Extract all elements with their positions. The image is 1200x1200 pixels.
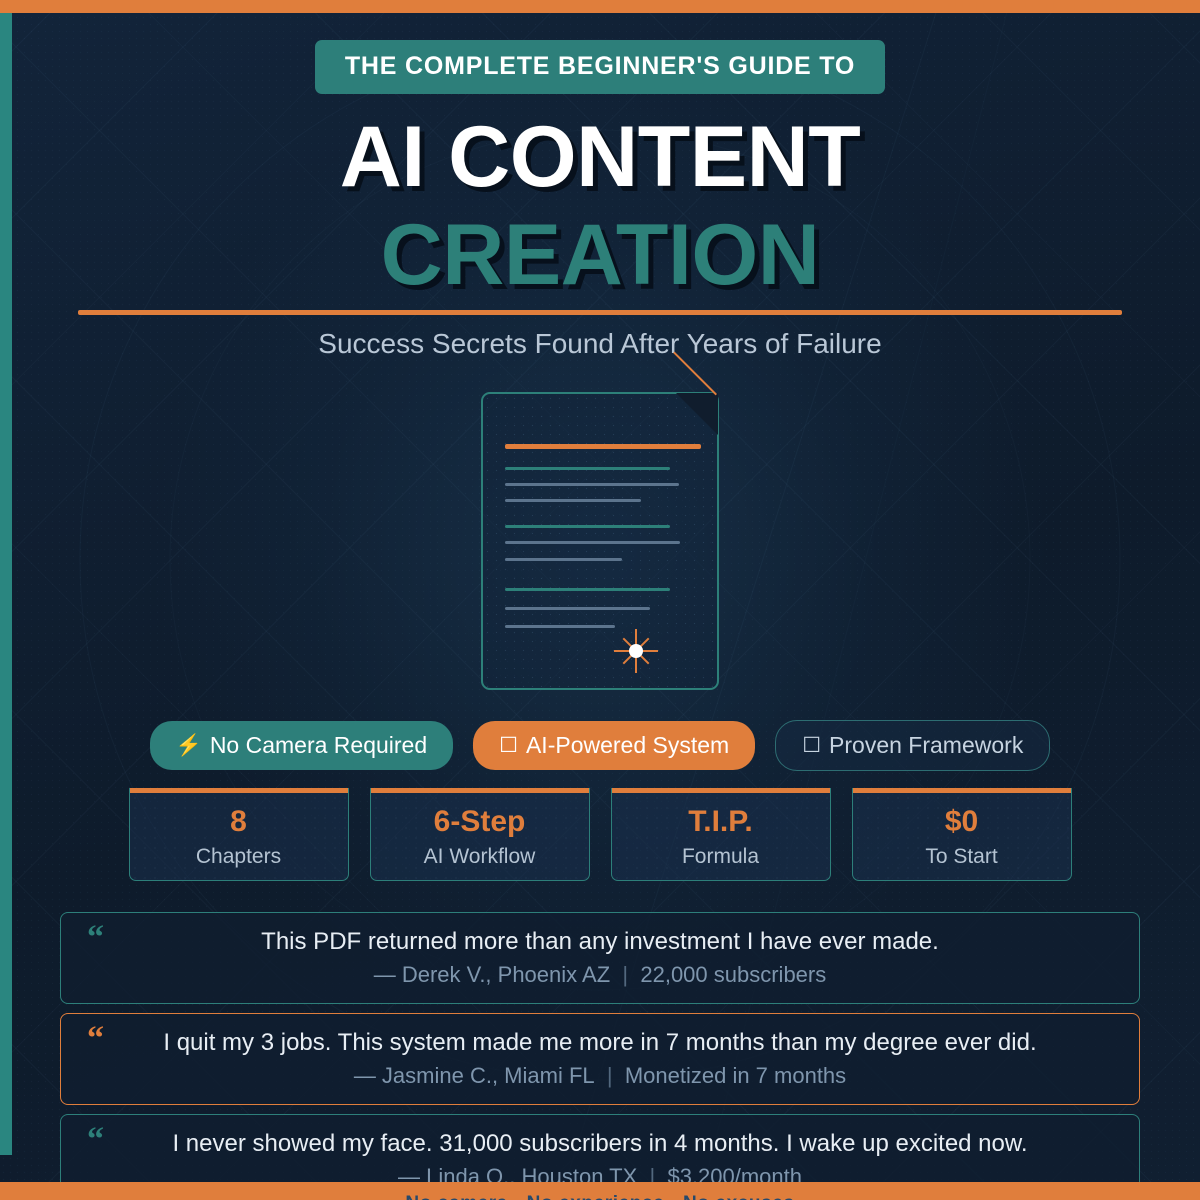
top-accent-bar xyxy=(0,0,1200,13)
testimonial-separator: | xyxy=(622,962,628,987)
title-divider xyxy=(78,310,1122,315)
badge-label: AI-Powered System xyxy=(526,732,729,759)
stat-card-chapters: 8Chapters xyxy=(129,788,349,881)
document-fold-corner-icon xyxy=(676,393,718,435)
testimonial-metric: 22,000 subscribers xyxy=(640,962,826,987)
testimonial-quote: This PDF returned more than any investme… xyxy=(117,927,1083,957)
poster-canvas: THE COMPLETE BEGINNER'S GUIDE TO AI CONT… xyxy=(0,0,1200,1200)
document-line xyxy=(505,444,701,449)
footer-text: No camera · No experience · No excuses xyxy=(405,1194,794,1200)
robot-icon: ☐ xyxy=(499,735,518,756)
testimonial-card: “I quit my 3 jobs. This system made me m… xyxy=(60,1013,1140,1105)
quote-mark-icon: “ xyxy=(87,1022,104,1056)
page-title-line1: AI CONTENT xyxy=(0,108,1200,207)
eyebrow-container: THE COMPLETE BEGINNER'S GUIDE TO xyxy=(0,40,1200,94)
footer-strip: No camera · No experience · No excuses xyxy=(0,1182,1200,1200)
stat-value: 8 xyxy=(230,805,247,839)
badge-row: ⚡No Camera Required☐AI-Powered System☐Pr… xyxy=(0,720,1200,771)
lightning-bolt-icon: ⚡ xyxy=(176,735,202,756)
document-line xyxy=(505,525,670,528)
quote-mark-icon: “ xyxy=(87,921,104,955)
document-line xyxy=(505,467,670,470)
testimonial-separator: | xyxy=(607,1063,613,1088)
document-line xyxy=(505,558,622,561)
stat-label: AI Workflow xyxy=(424,845,536,869)
document-line xyxy=(505,607,650,610)
stat-value: 6-Step xyxy=(434,805,526,839)
testimonial-attribution: — Jasmine C., Miami FL | Monetized in 7 … xyxy=(117,1063,1083,1089)
page-title-line2: CREATION xyxy=(0,206,1200,305)
stat-label: Chapters xyxy=(196,845,281,869)
document-line xyxy=(505,541,680,544)
eyebrow-badge: THE COMPLETE BEGINNER'S GUIDE TO xyxy=(315,40,885,94)
testimonial-author: — Derek V., Phoenix AZ xyxy=(374,962,610,987)
badge-label: No Camera Required xyxy=(210,732,427,759)
document-line xyxy=(505,588,670,591)
stat-card-to-start: $0To Start xyxy=(852,788,1072,881)
stat-value: T.I.P. xyxy=(688,805,752,839)
left-accent-bar xyxy=(0,13,12,1155)
stat-card-formula: T.I.P.Formula xyxy=(611,788,831,881)
stat-value: $0 xyxy=(945,805,978,839)
testimonial-quote: I quit my 3 jobs. This system made me mo… xyxy=(117,1028,1083,1058)
quote-mark-icon: “ xyxy=(87,1123,104,1157)
stats-row: 8Chapters6-StepAI WorkflowT.I.P.Formula$… xyxy=(0,788,1200,881)
testimonial-quote: I never showed my face. 31,000 subscribe… xyxy=(117,1129,1083,1159)
stat-label: Formula xyxy=(682,845,759,869)
testimonial-author: — Jasmine C., Miami FL xyxy=(354,1063,595,1088)
document-line xyxy=(505,483,679,486)
badge-label: Proven Framework xyxy=(829,732,1023,759)
sparkle-icon xyxy=(614,629,658,673)
testimonial-card: “This PDF returned more than any investm… xyxy=(60,912,1140,1004)
testimonial-metric: Monetized in 7 months xyxy=(625,1063,846,1088)
document-line xyxy=(505,499,641,502)
document-icon xyxy=(481,392,719,690)
stat-label: To Start xyxy=(925,845,997,869)
document-line xyxy=(505,625,615,628)
badge-proven-framework[interactable]: ☐Proven Framework xyxy=(775,720,1050,771)
badge-no-camera-required[interactable]: ⚡No Camera Required xyxy=(150,721,453,770)
check-badge-icon: ☐ xyxy=(802,735,821,756)
testimonials-list: “This PDF returned more than any investm… xyxy=(60,912,1140,1200)
stat-card-ai-workflow: 6-StepAI Workflow xyxy=(370,788,590,881)
testimonial-attribution: — Derek V., Phoenix AZ | 22,000 subscrib… xyxy=(117,962,1083,988)
badge-ai-powered-system[interactable]: ☐AI-Powered System xyxy=(473,721,755,770)
page-subtitle: Success Secrets Found After Years of Fai… xyxy=(0,328,1200,360)
